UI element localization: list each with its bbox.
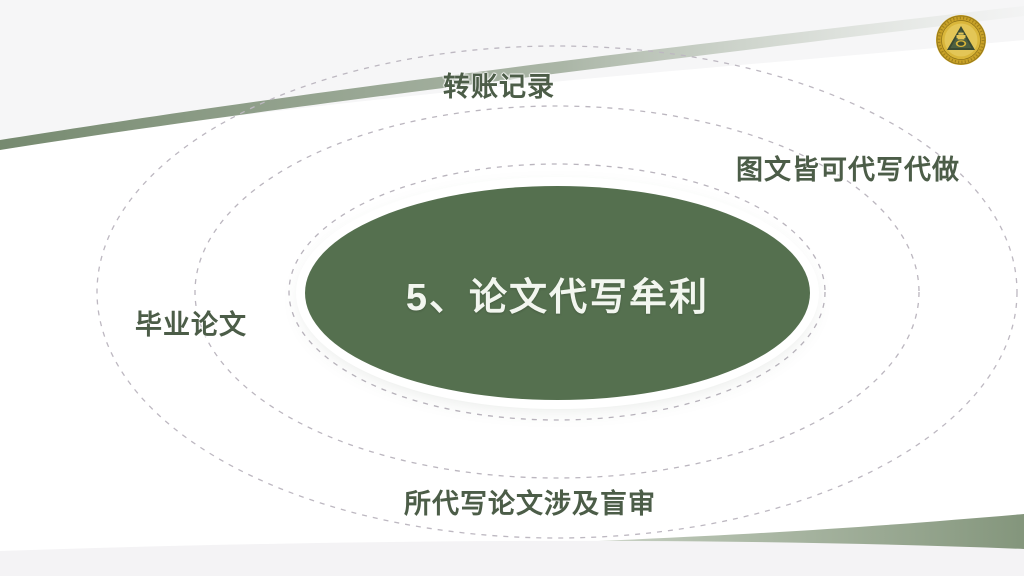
center-ellipse: 5、论文代写牟利: [305, 186, 810, 400]
center-title: 5、论文代写牟利: [406, 266, 709, 321]
university-seal-emblem: [934, 13, 988, 67]
label-left-graduation-thesis: 毕业论文: [135, 303, 247, 342]
label-top-transfer-records: 转账记录: [443, 65, 555, 104]
label-bottom-blind-review: 所代写论文涉及盲审: [404, 482, 656, 521]
label-right-text-and-image-writing: 图文皆可代写代做: [736, 148, 960, 187]
slide-canvas: 5、论文代写牟利 转账记录 图文皆可代写代做 毕业论文 所代写论文涉及盲审: [0, 0, 1024, 576]
